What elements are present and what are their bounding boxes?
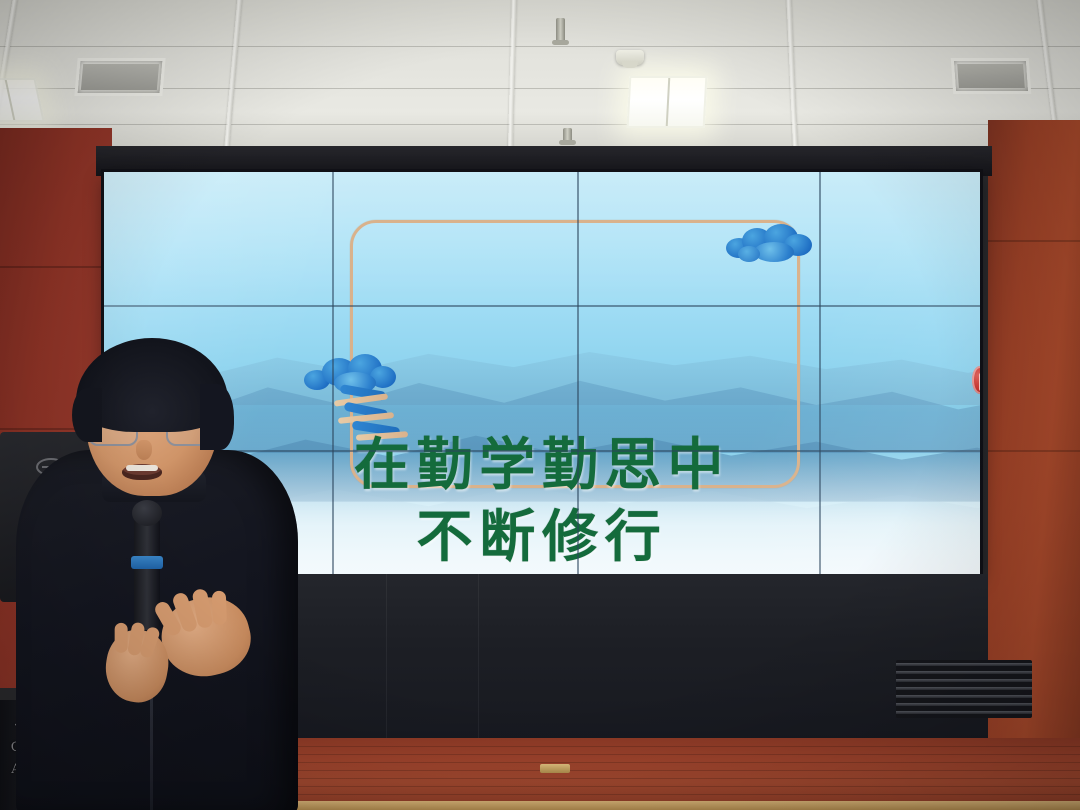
lecture-hall-photo: 在勤学勤思中 不断修行 马克思主义学院博士研究生 赵凯凯 西北大学 NORTHW… <box>0 0 1080 810</box>
presenter-hair <box>76 338 228 432</box>
auspicious-cloud-icon-top-right <box>724 222 816 266</box>
bezel-seam-vertical-1 <box>332 172 334 574</box>
bezel-seam-vertical-3 <box>819 172 821 574</box>
bezel-seam-vertical-2 <box>577 172 579 574</box>
university-seal-icon <box>972 366 980 394</box>
presenter-mouth <box>122 464 162 480</box>
smoke-detector-icon <box>616 50 644 65</box>
presenter <box>10 330 310 810</box>
ventilation-grille <box>896 660 1032 718</box>
ceiling-vent-right <box>951 58 1032 94</box>
ceiling-light-panel <box>627 76 708 128</box>
sprinkler-head-icon-2 <box>563 128 572 142</box>
floor-marker <box>540 764 570 773</box>
university-logo: 西北大学 NORTHWEST UNIVERSITY <box>972 349 980 410</box>
ceiling <box>0 0 1080 160</box>
wall-panel-right <box>988 120 1080 740</box>
bezel-seam-horizontal-1 <box>104 305 980 307</box>
sprinkler-head-icon <box>556 18 565 42</box>
ceiling-vent-left <box>74 58 165 96</box>
ceiling-light-panel-left <box>0 78 45 122</box>
